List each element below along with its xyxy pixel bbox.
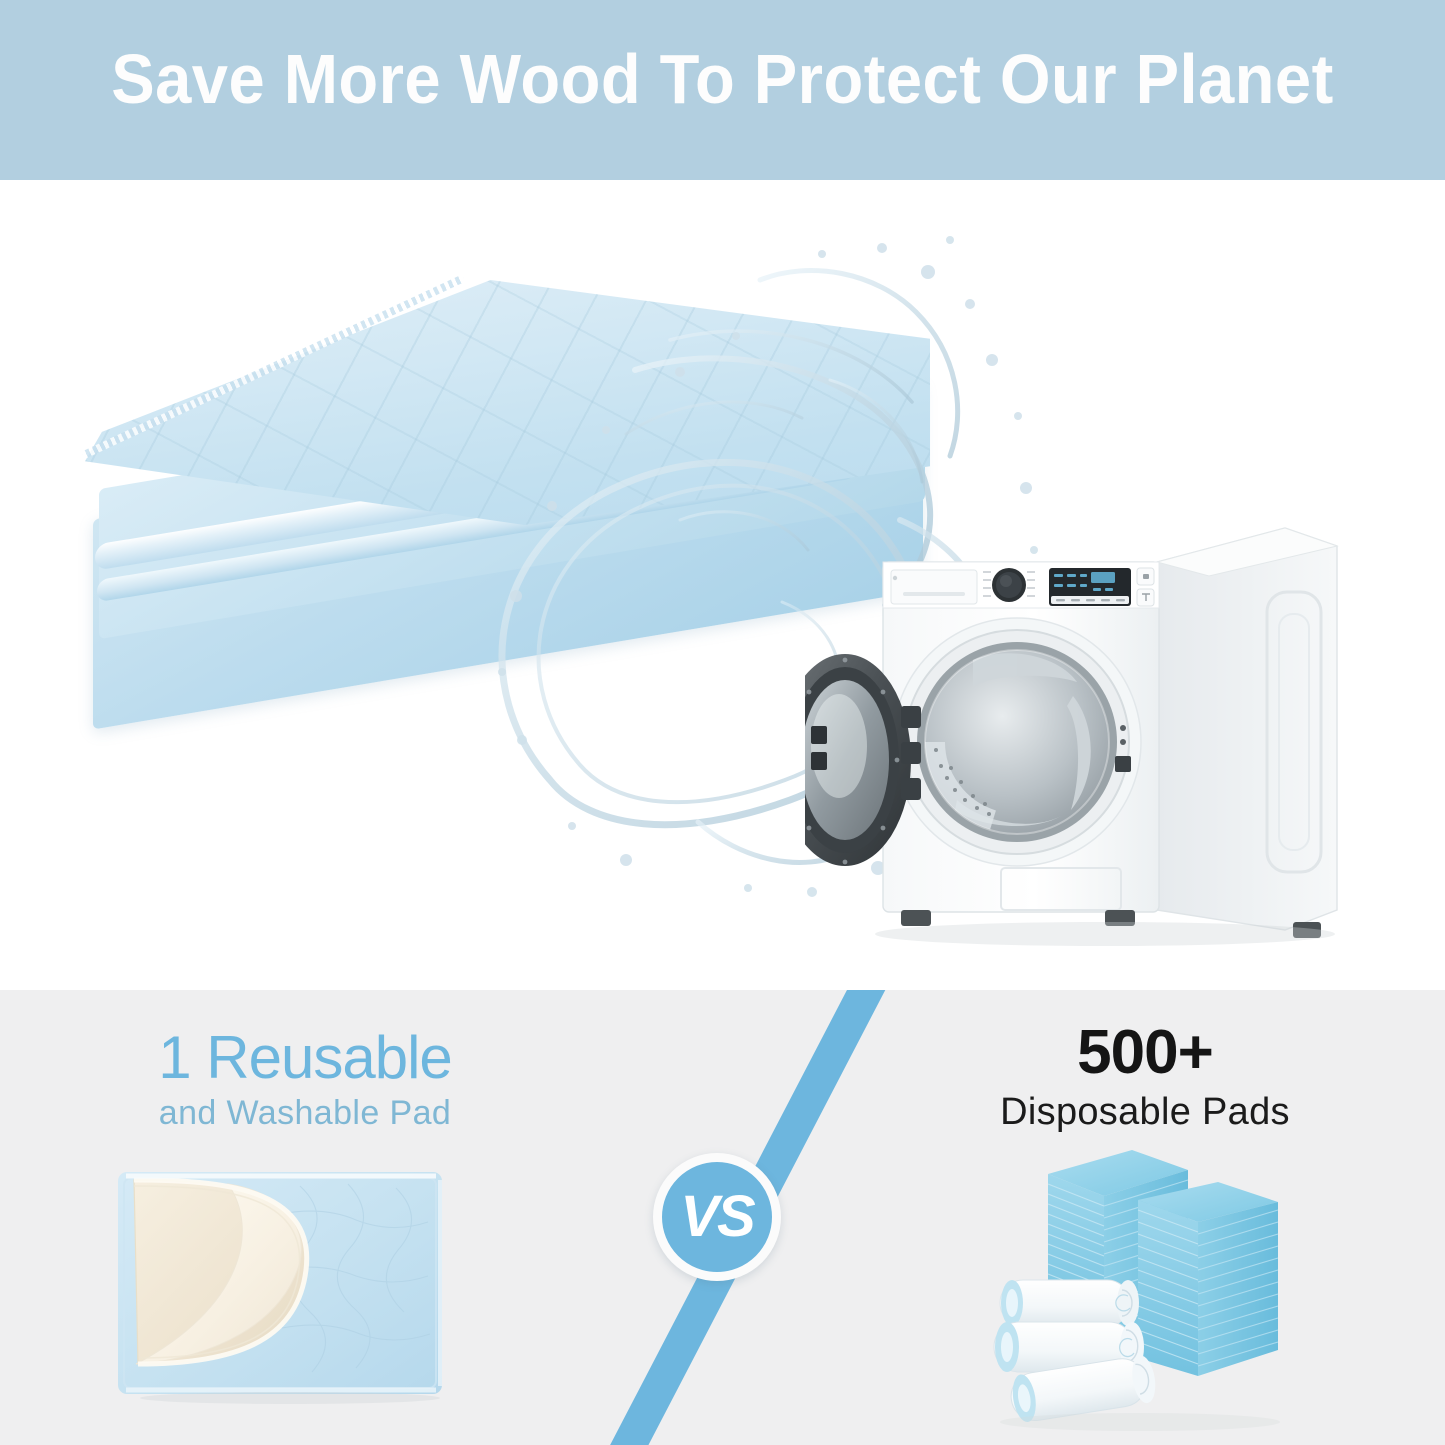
left-subline: and Washable Pad [0, 1092, 610, 1135]
left-headline: 1 Reusable [0, 1028, 610, 1088]
washing-machine-icon [805, 510, 1345, 980]
vs-badge: VS [653, 1153, 781, 1281]
left-label-block: 1 Reusable and Washable Pad [0, 1028, 610, 1135]
vs-badge-label: VS [680, 1188, 753, 1246]
hero-section [0, 180, 1445, 990]
page-title: Save More Wood To Protect Our Planet [51, 44, 1395, 114]
right-subline: Disposable Pads [845, 1090, 1445, 1136]
product-infographic: Save More Wood To Protect Our Planet [0, 0, 1445, 1445]
header-band: Save More Wood To Protect Our Planet [0, 0, 1445, 180]
reusable-pad-photo [110, 1158, 450, 1406]
right-headline: 500+ [845, 1022, 1445, 1084]
right-label-block: 500+ Disposable Pads [845, 1022, 1445, 1136]
disposable-pads-photo [990, 1138, 1310, 1438]
